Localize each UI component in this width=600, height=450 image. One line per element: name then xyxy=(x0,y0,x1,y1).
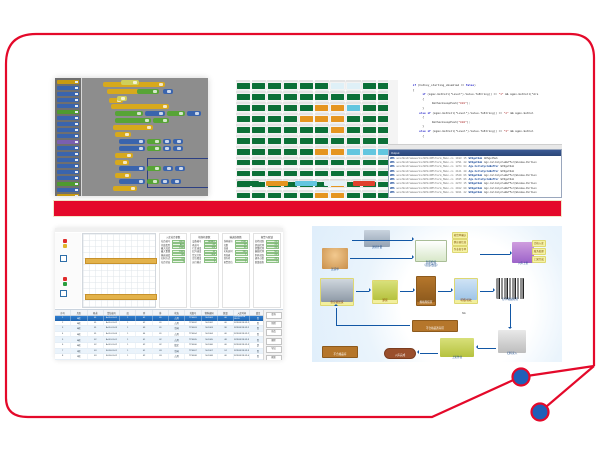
bin-cell[interactable] xyxy=(267,135,281,145)
code-line-4: DoCheckLoopPush("001"); xyxy=(432,102,470,105)
accent-dot-lower xyxy=(532,404,549,421)
arrowhead-putaway-to-done xyxy=(417,350,419,354)
bin-cell[interactable] xyxy=(362,157,376,167)
code-line-3: { xyxy=(422,98,424,101)
code-block-10[interactable] xyxy=(167,111,185,116)
palette-block-4[interactable] xyxy=(57,104,79,108)
bin-cell[interactable] xyxy=(315,146,329,156)
bin-cell[interactable] xyxy=(236,146,250,156)
bin-cell[interactable] xyxy=(252,190,266,198)
bin-cell[interactable] xyxy=(362,80,376,90)
bin-cell[interactable] xyxy=(267,146,281,156)
bin-cell[interactable] xyxy=(346,124,360,134)
bin-cell[interactable] xyxy=(330,135,344,145)
table-column-header[interactable]: 巷道 xyxy=(88,310,104,315)
table-cell: M-1004 xyxy=(202,332,218,337)
bin-cell[interactable] xyxy=(252,113,266,123)
ng-branch-label: NG xyxy=(462,312,466,315)
bin-cell[interactable] xyxy=(330,102,344,112)
bin-cell[interactable] xyxy=(267,190,281,198)
log-line: 2635 xyxy=(456,178,462,181)
code-block-25[interactable] xyxy=(115,160,129,165)
bin-cell[interactable] xyxy=(299,124,313,134)
code-block-9[interactable] xyxy=(145,111,165,116)
bin-cell-body xyxy=(237,127,250,133)
bin-cell[interactable] xyxy=(299,168,313,178)
code-block-28[interactable] xyxy=(163,166,173,171)
code-block-22[interactable] xyxy=(163,146,171,151)
bin-cell[interactable] xyxy=(362,124,376,134)
bin-cell[interactable] xyxy=(236,124,250,134)
table-column-header[interactable]: 序号 xyxy=(55,310,71,315)
code-block-27[interactable] xyxy=(147,166,161,171)
palette-block-3[interactable] xyxy=(57,98,79,102)
bin-cell-header xyxy=(299,113,313,115)
bin-cell-header xyxy=(283,124,297,126)
table-action-button[interactable]: 删除 xyxy=(266,338,282,345)
table-cell: TP0004 xyxy=(185,332,201,337)
log-col: 04 xyxy=(464,165,467,168)
bin-cell-body xyxy=(347,160,360,166)
legend-swatch-fill xyxy=(324,181,346,186)
bin-cell[interactable] xyxy=(330,146,344,156)
bin-cell[interactable] xyxy=(362,113,376,123)
bin-cell-header xyxy=(330,124,344,126)
code-block-29[interactable] xyxy=(175,166,185,171)
log-message: Agv.CellsCycleBuffer(Window.Portion xyxy=(484,161,537,164)
code-block-21[interactable] xyxy=(147,146,161,151)
bin-cell-header xyxy=(346,146,360,148)
bin-cell[interactable] xyxy=(236,102,250,112)
code-block-1[interactable] xyxy=(121,80,139,85)
flow-annotation-tag-5: 上架完成 xyxy=(532,256,546,263)
bin-cell[interactable] xyxy=(299,135,313,145)
table-body[interactable]: 1A区01A-01-01-0110101占用TP0001M-1001402023… xyxy=(55,316,283,360)
bin-cell[interactable] xyxy=(236,113,250,123)
arrowhead-weigh-to-check xyxy=(412,237,414,241)
code-block-7[interactable] xyxy=(111,104,169,109)
bin-cell-body xyxy=(284,94,297,100)
table-action-button[interactable]: 导出 xyxy=(266,346,282,353)
presentation-slide: if (hotkey_starting_disabled == false){i… xyxy=(0,0,600,450)
parameter-group: 入库站台参数站台编号0001托盘类型A01最大高度1500最大重量1000输送速… xyxy=(159,233,187,308)
table-action-buttons[interactable]: 查询新增修改删除导出刷新 xyxy=(263,310,283,360)
table-cell: TP0005 xyxy=(185,337,201,342)
bin-cell[interactable] xyxy=(346,91,360,101)
bin-cell-body xyxy=(237,171,250,177)
bin-cell-header xyxy=(315,168,329,170)
palette-block-17[interactable] xyxy=(57,182,79,186)
code-block-35[interactable] xyxy=(113,186,137,191)
bin-cell-body xyxy=(347,138,360,144)
bin-cell[interactable] xyxy=(346,146,360,156)
bin-cell-body xyxy=(268,138,281,144)
bin-cell[interactable] xyxy=(346,135,360,145)
table-cell: 40 xyxy=(218,332,234,337)
code-block-11[interactable] xyxy=(187,111,201,116)
bin-cell-body xyxy=(331,94,344,100)
flow-node-putaway: 上架作业 xyxy=(440,338,474,360)
table-action-button[interactable]: 新增 xyxy=(266,321,282,328)
bin-cell[interactable] xyxy=(252,168,266,178)
table-action-button[interactable]: 刷新 xyxy=(266,355,282,361)
flow-node-store: 入库上架 xyxy=(512,242,534,266)
table-cell: 01 xyxy=(153,332,169,337)
bin-cell[interactable] xyxy=(236,80,250,90)
arrow-repack-to-recount xyxy=(438,291,451,292)
table-action-button[interactable]: 修改 xyxy=(266,329,282,336)
table-cell: 03 xyxy=(88,349,104,354)
bin-cell[interactable] xyxy=(267,168,281,178)
code-block-32[interactable] xyxy=(147,179,159,184)
code-block-16[interactable] xyxy=(119,139,145,144)
table-row[interactable]: 8B区03B-03-01-0210203占用TP0008M-1008402023… xyxy=(55,354,283,360)
bin-cell-body xyxy=(284,116,297,122)
bin-cell-body xyxy=(347,116,360,122)
bin-cell[interactable] xyxy=(330,157,344,167)
bin-cell-body xyxy=(331,171,344,177)
bin-cell-header xyxy=(315,190,329,192)
table-cell: 占用 xyxy=(169,354,185,359)
bin-cell-body xyxy=(300,160,313,166)
bin-cell[interactable] xyxy=(315,190,329,198)
bin-cell[interactable] xyxy=(346,113,360,123)
bin-cell[interactable] xyxy=(330,168,344,178)
code-block-31[interactable] xyxy=(119,179,145,184)
conveyor-bar-upper[interactable] xyxy=(85,258,157,264)
palette-block-15[interactable] xyxy=(57,170,79,174)
bin-cell-body xyxy=(268,149,281,155)
table-cell: M-1005 xyxy=(202,337,218,342)
code-block-19[interactable] xyxy=(173,139,183,144)
bin-cell[interactable] xyxy=(267,124,281,134)
arrow-scan-to-putaway xyxy=(478,348,496,349)
bin-cell-header xyxy=(315,157,329,159)
bin-cell-header xyxy=(283,135,297,137)
log-source: WMS xyxy=(390,161,395,164)
bin-cell-header xyxy=(252,124,266,126)
blocks-canvas[interactable] xyxy=(85,78,208,196)
code-line-2: if (mgmv.GetCell("Level").Value.ToString… xyxy=(422,93,538,96)
sheet-toolbar[interactable] xyxy=(55,228,283,232)
bin-cell[interactable] xyxy=(299,91,313,101)
bin-cell-header xyxy=(330,168,344,170)
bin-cell[interactable] xyxy=(252,102,266,112)
bin-cell-body xyxy=(284,127,297,133)
bin-cell[interactable] xyxy=(283,146,297,156)
flow-annotation-tag-1: 供应商信息 xyxy=(452,239,468,246)
bin-cell-header xyxy=(236,146,250,148)
bin-cell[interactable] xyxy=(346,102,360,112)
arrow-ngzone-to-trunk xyxy=(336,325,410,326)
bin-cell[interactable] xyxy=(236,157,250,167)
bin-cell-header xyxy=(267,113,281,115)
bin-cell[interactable] xyxy=(267,91,281,101)
bin-cell[interactable] xyxy=(362,102,376,112)
bin-cell-body xyxy=(268,160,281,166)
table-column-header[interactable]: 列 xyxy=(136,310,152,315)
bin-cell[interactable] xyxy=(252,80,266,90)
code-block-3[interactable] xyxy=(137,89,159,94)
bin-cell[interactable] xyxy=(283,102,297,112)
table-column-header[interactable]: 状态 xyxy=(169,310,185,315)
bin-cell[interactable] xyxy=(252,91,266,101)
palette-block-10[interactable] xyxy=(57,140,79,144)
bin-cell-header xyxy=(330,146,344,148)
table-cell: 占用 xyxy=(169,337,185,342)
source-code-editor[interactable]: if (hotkey_starting_disabled == false){i… xyxy=(388,80,562,144)
parameter-value-input[interactable]: 1 xyxy=(266,260,279,263)
console-log-row[interactable]: WMSwcs/WcsFrameworks/WCS/APP/Form_Main.c… xyxy=(389,190,561,194)
log-message: WCSgetSub xyxy=(501,178,515,181)
bin-cell[interactable] xyxy=(315,113,329,123)
layout-grid-canvas[interactable] xyxy=(82,233,156,308)
bin-cell[interactable] xyxy=(299,80,313,90)
conveyor-bar-lower[interactable] xyxy=(85,294,157,300)
device-tree-pane[interactable] xyxy=(55,233,81,308)
console-log-rows[interactable]: WMSwcs/WcsFrameworks/WCS/APP/Form_Main.c… xyxy=(389,156,561,195)
log-col: 06 xyxy=(464,174,467,177)
bin-cell-body xyxy=(347,193,360,198)
palette-block-8[interactable] xyxy=(57,128,79,132)
code-block-13[interactable] xyxy=(153,118,169,123)
bin-cell[interactable] xyxy=(299,157,313,167)
block-palette[interactable] xyxy=(55,78,82,196)
table-column-header[interactable]: 层 xyxy=(120,310,136,315)
bin-cell-header xyxy=(315,135,329,137)
bin-cell[interactable] xyxy=(283,135,297,145)
code-block-24[interactable] xyxy=(115,153,133,158)
table-cell: TP0006 xyxy=(185,343,201,348)
table-cell: TP0007 xyxy=(185,349,201,354)
code-line-9: } xyxy=(422,125,424,128)
bin-cell[interactable] xyxy=(299,113,313,123)
code-block-6[interactable] xyxy=(117,96,127,101)
bin-cell[interactable] xyxy=(283,190,297,198)
log-line: 1193 xyxy=(456,157,462,160)
palette-block-5[interactable] xyxy=(57,110,79,114)
bin-cell[interactable] xyxy=(346,157,360,167)
log-level: Agv.CellsCycleBuffer xyxy=(469,178,499,181)
bin-cell[interactable] xyxy=(283,157,297,167)
bin-cell[interactable] xyxy=(346,190,360,198)
palette-block-0[interactable] xyxy=(57,80,79,84)
log-col: 15 xyxy=(464,157,467,160)
bin-cell[interactable] xyxy=(362,135,376,145)
code-block-15[interactable] xyxy=(115,132,131,137)
palette-block-11[interactable] xyxy=(57,146,79,150)
frame-dot-connector xyxy=(540,366,594,412)
bin-cell[interactable] xyxy=(315,102,329,112)
parameter-value-input[interactable]: 1 xyxy=(172,260,185,263)
flow-node-repack: 规格理货区 xyxy=(416,276,436,306)
bin-cell[interactable] xyxy=(236,91,250,101)
parameter-field: 报警复位1 xyxy=(224,260,248,263)
palette-block-9[interactable] xyxy=(57,134,79,138)
bin-cell-header xyxy=(346,113,360,115)
bin-cell[interactable] xyxy=(283,80,297,90)
bin-cell[interactable] xyxy=(362,168,376,178)
code-block-26[interactable] xyxy=(119,166,145,171)
bin-cell-header xyxy=(267,190,281,192)
bin-cell[interactable] xyxy=(330,113,344,123)
code-block-34[interactable] xyxy=(171,179,181,184)
table-cell: 01 xyxy=(136,337,152,342)
bin-cell[interactable] xyxy=(362,91,376,101)
log-level: WCSgetSub xyxy=(469,161,483,164)
bin-cell-header xyxy=(267,157,281,159)
bin-cell[interactable] xyxy=(236,190,250,198)
code-line-5: } xyxy=(422,107,424,110)
flow-node-icon-scan xyxy=(498,330,526,353)
log-col: 09 xyxy=(464,187,467,190)
code-block-20[interactable] xyxy=(119,146,145,151)
log-path: wcs/WcsFrameworks/WCS/APP/Form_Main.cs xyxy=(397,178,454,181)
bin-cell[interactable] xyxy=(283,124,297,134)
palette-block-13[interactable] xyxy=(57,158,79,162)
flow-node-icon-truck xyxy=(321,279,353,302)
bin-cell[interactable] xyxy=(330,91,344,101)
bin-cell[interactable] xyxy=(267,157,281,167)
table-cell: 1 xyxy=(120,343,136,348)
code-block-18[interactable] xyxy=(163,139,171,144)
table-column-header[interactable]: 数量 xyxy=(218,310,234,315)
log-path: wcs/WcsFrameworks/WCS/APP/Form_Main.cs xyxy=(397,161,454,164)
bin-cell[interactable] xyxy=(362,146,376,156)
flow-node-recount: 明细/验收 xyxy=(454,278,478,304)
palette-block-7[interactable] xyxy=(57,122,79,126)
bin-cell-header xyxy=(252,168,266,170)
table-cell: 01 xyxy=(136,349,152,354)
bin-cell-body xyxy=(347,105,360,111)
table-cell: 40 xyxy=(218,354,234,359)
code-block-14[interactable] xyxy=(113,125,153,130)
palette-block-16[interactable] xyxy=(57,176,79,180)
bin-cell-body xyxy=(237,149,250,155)
bin-cell[interactable] xyxy=(315,80,329,90)
legend-swatch-pale xyxy=(323,180,347,187)
code-block-30[interactable] xyxy=(115,173,131,178)
bin-cell[interactable] xyxy=(299,146,313,156)
log-path: wcs/WcsFrameworks/WCS/APP/Form_Main.cs xyxy=(397,174,454,177)
palette-block-18[interactable] xyxy=(57,188,79,192)
bin-cell[interactable] xyxy=(362,190,376,198)
bin-cell[interactable] xyxy=(267,80,281,90)
bin-cell-header xyxy=(315,113,329,115)
output-console-window: Output WMSwcs/WcsFrameworks/WCS/APP/Form… xyxy=(388,149,562,198)
bin-cell[interactable] xyxy=(315,168,329,178)
bin-cell[interactable] xyxy=(330,190,344,198)
bin-cell[interactable] xyxy=(252,157,266,167)
bin-cell[interactable] xyxy=(252,135,266,145)
table-cell: M-1007 xyxy=(202,349,218,354)
station-node-upper[interactable] xyxy=(60,255,67,262)
bin-cell-header xyxy=(283,168,297,170)
log-message: WCSgetSub xyxy=(484,157,498,160)
bin-cell[interactable] xyxy=(252,146,266,156)
log-message: WCSgetSub xyxy=(501,170,515,173)
bin-cell-body xyxy=(237,193,250,198)
bin-cell[interactable] xyxy=(283,91,297,101)
bin-cell[interactable] xyxy=(283,168,297,178)
table-column-header[interactable]: 入库时间 xyxy=(234,310,250,315)
bin-cell[interactable] xyxy=(346,168,360,178)
code-block-4[interactable] xyxy=(163,89,173,94)
bin-cell-header xyxy=(299,146,313,148)
palette-block-12[interactable] xyxy=(57,152,79,156)
table-column-header[interactable]: 排 xyxy=(153,310,169,315)
bin-cell[interactable] xyxy=(315,135,329,145)
palette-block-19[interactable] xyxy=(57,194,79,196)
table-cell: 01 xyxy=(88,332,104,337)
bin-cell[interactable] xyxy=(315,91,329,101)
bin-cell[interactable] xyxy=(267,113,281,123)
bin-cell[interactable] xyxy=(346,80,360,90)
palette-block-14[interactable] xyxy=(57,164,79,168)
bin-cell-body xyxy=(315,138,328,144)
table-column-header[interactable]: 货位编号 xyxy=(104,310,120,315)
bin-cell-body xyxy=(252,94,265,100)
bin-cell-header xyxy=(299,168,313,170)
table-cell: A区 xyxy=(71,337,87,342)
table-column-header[interactable]: 托盘号 xyxy=(185,310,201,315)
code-block-23[interactable] xyxy=(173,146,183,151)
code-block-8[interactable] xyxy=(115,111,143,116)
parameter-value-input[interactable]: 1 xyxy=(235,260,248,263)
bin-cell-body xyxy=(300,193,313,198)
bin-cell-body xyxy=(363,149,376,155)
bin-cell[interactable] xyxy=(315,124,329,134)
bin-cell[interactable] xyxy=(330,124,344,134)
table-cell: B区 xyxy=(71,354,87,359)
station-node-lower[interactable] xyxy=(60,290,67,297)
code-block-12[interactable] xyxy=(115,118,151,123)
palette-block-2[interactable] xyxy=(57,92,79,96)
flow-node-icon-shelf xyxy=(512,242,534,263)
bin-cell-header xyxy=(362,135,376,137)
table-cell: 40 xyxy=(218,343,234,348)
parameter-value-input[interactable]: 2 xyxy=(204,260,217,263)
legend-swatch-cyan xyxy=(294,180,318,187)
bin-cell[interactable] xyxy=(236,168,250,178)
palette-block-6[interactable] xyxy=(57,116,79,120)
log-message: Agv.CellsCycleBuffer(Window.Portion xyxy=(484,191,537,194)
table-action-button[interactable]: 查询 xyxy=(266,312,282,319)
palette-block-1[interactable] xyxy=(57,86,79,90)
arrow-label-to-scan xyxy=(510,304,511,328)
bin-cell[interactable] xyxy=(283,113,297,123)
status-chip-red-2 xyxy=(63,277,67,281)
bin-cell[interactable] xyxy=(299,190,313,198)
bin-cell[interactable] xyxy=(236,135,250,145)
bin-cell[interactable] xyxy=(330,80,344,90)
bin-cell-body xyxy=(268,94,281,100)
table-cell: 02 xyxy=(88,343,104,348)
bin-cell[interactable] xyxy=(252,124,266,134)
log-level: WCSgetSub xyxy=(469,174,483,177)
flow-node-label: 上架作业 xyxy=(452,357,462,360)
table-cell: 04 xyxy=(136,332,152,337)
bin-cell[interactable] xyxy=(299,102,313,112)
code-block-33[interactable] xyxy=(161,179,169,184)
table-column-header[interactable]: 库区 xyxy=(71,310,87,315)
table-column-header[interactable]: 物料编码 xyxy=(202,310,218,315)
bin-cell[interactable] xyxy=(267,102,281,112)
log-message: WCSgetSub xyxy=(501,165,515,168)
code-block-17[interactable] xyxy=(147,139,161,144)
bin-cell[interactable] xyxy=(315,157,329,167)
bin-cell-body xyxy=(252,149,265,155)
